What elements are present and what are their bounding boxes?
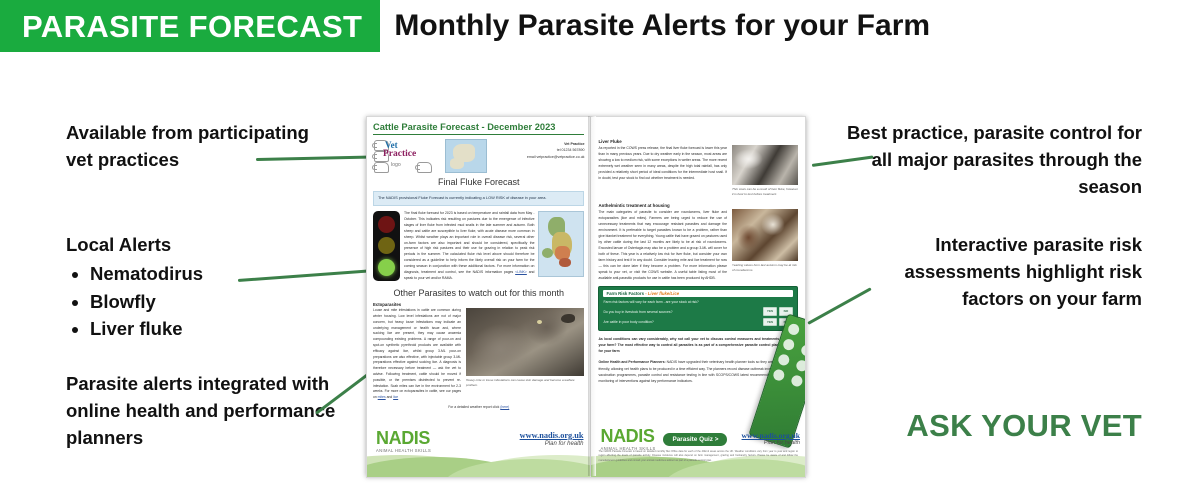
map-landmass (450, 158, 464, 169)
cow-photo-caption: Heavy mite or louse infestations can cau… (466, 378, 584, 389)
risk-status-text: The NADIS provisional Fluke Forecast is … (378, 195, 546, 200)
nadis-url[interactable]: www.nadis.org.uk (520, 431, 584, 440)
vet-logo-line3: logo (391, 162, 401, 168)
newsletter-spread[interactable]: Cattle Parasite Forecast - December 2023… (366, 116, 806, 476)
ectoparasites-paragraph: Louse and mite infestations in cattle ar… (373, 308, 461, 399)
anthelmintic-paragraph: The main categories of parasite to consi… (598, 210, 727, 281)
annotation-local-alerts: Local Alerts Nematodirus Blowfly Liver f… (66, 232, 316, 344)
calves-photo-column: Yearling calves born last autumn may be … (732, 209, 798, 274)
planners-label: Online Health and Performance Planners: (598, 360, 665, 364)
app-icon (787, 322, 801, 336)
ectoparasites-body: Louse and mite infestations in cattle ar… (373, 308, 461, 401)
conjunction: and (387, 395, 393, 399)
vet-contact-block: Vet Practice tel 01234 567890 email vetp… (491, 139, 584, 160)
risk-status-callout: The NADIS provisional Fluke Forecast is … (373, 191, 584, 206)
forecast-subtitle: Final Fluke Forecast (373, 177, 584, 187)
risk-box-subtitle: - Liver fluke/Lice (645, 291, 679, 296)
nadis-wordmark: NADIS (376, 429, 431, 447)
left-page-footer: NADIS ANIMAL HEALTH SKILLS www.nadis.org… (367, 419, 590, 477)
nadis-url[interactable]: www.nadis.org.uk (742, 431, 800, 440)
app-icon (794, 359, 806, 373)
app-icon (772, 368, 786, 382)
ectoparasites-heading: Ectoparasites (373, 302, 584, 307)
vet-logo-line2: Practice (383, 149, 416, 159)
risk-box-title: Farm Risk Factors (606, 291, 644, 296)
liver-fluke-row: As reported in the COWS press release, t… (598, 145, 798, 198)
parasite-quiz-button[interactable]: Parasite Quiz > (663, 433, 727, 446)
closing-paragraph: As local conditions can vary considerabl… (598, 336, 798, 354)
disclaimer-text: The NADIS Parasite Forecast is based on … (598, 450, 798, 464)
vet-practice-logo: Vet Practice logo (373, 139, 441, 173)
nadis-logo[interactable]: NADIS ANIMAL HEALTH SKILLS (600, 427, 655, 451)
app-icon (789, 374, 803, 388)
page-title: Monthly Parasite Alerts for your Farm (380, 0, 930, 52)
ectoparasites-row: Louse and mite infestations in cattle ar… (373, 308, 584, 401)
cow-silhouette-icon (374, 162, 389, 173)
cow-ear (561, 314, 575, 323)
yes-button[interactable]: YES (763, 318, 777, 327)
liver-fluke-heading: Liver Fluke (598, 139, 798, 144)
annotation-available-from: Available from participating vet practic… (66, 120, 316, 174)
forecast-body-link[interactable]: <LINK> (515, 270, 527, 274)
map-region (542, 248, 553, 258)
nadis-plan-for-health: Plan for health (520, 441, 584, 447)
traffic-light-amber-lamp-icon (378, 237, 395, 254)
other-parasites-heading: Other Parasites to watch out for this mo… (373, 288, 584, 298)
ask-your-vet-cta: ASK YOUR VET (906, 408, 1142, 444)
local-alerts-heading: Local Alerts (66, 232, 316, 259)
right-page-footer: NADIS ANIMAL HEALTH SKILLS Parasite Quiz… (591, 417, 805, 477)
liver-fluke-paragraph: As reported in the COWS press release, t… (598, 146, 727, 180)
forecast-body-paragraph: The final fluke forecast for 2023 is bas… (404, 211, 534, 274)
risk-question-text: Do you buy in livestock from several sou… (603, 310, 672, 314)
annotation-text: Interactive parasite risk assessments hi… (904, 234, 1142, 309)
annotation-text: Available from participating vet practic… (66, 122, 309, 170)
nadis-plan-for-health: Plan for health (742, 440, 800, 446)
forecast-title: Cattle Parasite Forecast - December 2023 (373, 122, 584, 135)
app-icon (777, 353, 791, 367)
cow-silhouette-icon (417, 162, 432, 173)
cow-photo-column: Heavy mite or louse infestations can cau… (466, 308, 584, 401)
local-alerts-list: Nematodirus Blowfly Liver fluke (66, 261, 316, 343)
risk-box-header: Farm Risk Factors - Liver fluke/Lice (603, 290, 793, 297)
anthelmintic-heading: Anthelmintic treatment at housing (598, 203, 798, 208)
weather-report-line: For a detailed weather report click (her… (373, 405, 584, 409)
traffic-light-indicator (373, 211, 400, 281)
risk-question-row: Do you buy in livestock from several sou… (603, 307, 793, 316)
cow-photo (466, 308, 584, 376)
nadis-wordmark: NADIS (600, 427, 655, 445)
fluke-photo-column: Thin cows can be a result of liver fluke… (732, 145, 798, 198)
page-header: PARASITE FORECAST Monthly Parasite Alert… (0, 0, 930, 52)
risk-box-intro: Farm risk factors will vary for each far… (603, 300, 793, 304)
thin-cow-photo (732, 145, 798, 185)
nadis-url-block[interactable]: www.nadis.org.uk Plan for health (520, 431, 584, 447)
traffic-light-green-lamp-icon (378, 259, 395, 276)
map-region (559, 258, 571, 267)
list-item: Liver fluke (90, 316, 316, 343)
risk-question-row: Are cattle in poor body condition? YES N… (603, 318, 793, 327)
annotation-integrated-planners: Parasite alerts integrated with online h… (66, 371, 336, 451)
liver-fluke-body: As reported in the COWS press release, t… (598, 145, 727, 181)
poster-canvas: PARASITE FORECAST Monthly Parasite Alert… (0, 0, 1200, 500)
vet-email: email vetpractice@vetpractice.co.uk (491, 154, 584, 160)
weather-report-text: For a detailed weather report click (448, 405, 499, 409)
newsletter-page-right[interactable]: Liver Fluke As reported in the COWS pres… (591, 116, 806, 478)
annotation-interactive-risk: Interactive parasite risk assessments hi… (852, 232, 1142, 312)
farm-risk-factors-box[interactable]: Farm Risk Factors - Liver fluke/Lice Far… (598, 286, 798, 331)
list-item: Blowfly (90, 289, 316, 316)
ectoparasites-link-mites[interactable]: mites (378, 395, 386, 399)
app-icon (799, 343, 806, 357)
anthelmintic-body: The main categories of parasite to consi… (598, 209, 727, 282)
header-badge: PARASITE FORECAST (0, 0, 380, 52)
newsletter-page-left[interactable]: Cattle Parasite Forecast - December 2023… (366, 116, 591, 478)
nadis-tagline: ANIMAL HEALTH SKILLS (376, 448, 431, 453)
risk-question-text: Are cattle in poor body condition? (603, 320, 653, 324)
uk-fluke-risk-map (538, 211, 584, 277)
annotation-text: Best practice, parasite control for all … (847, 122, 1142, 197)
weather-report-link[interactable]: (here) (500, 405, 509, 409)
list-item: Nematodirus (90, 261, 316, 288)
yes-button[interactable]: YES (763, 307, 777, 316)
app-icon (804, 328, 806, 342)
nadis-url-block[interactable]: www.nadis.org.uk Plan for health (742, 431, 800, 446)
region-map-thumbnail (445, 139, 487, 173)
thin-cow-caption: Thin cows can be a result of liver fluke… (732, 187, 798, 198)
app-icon (782, 338, 796, 352)
ectoparasites-link-lice[interactable]: lice (393, 395, 398, 399)
anthelmintic-row: The main categories of parasite to consi… (598, 209, 798, 282)
calves-caption: Yearling calves born last autumn may be … (732, 263, 798, 274)
forecast-body-row: The final fluke forecast for 2023 is bas… (373, 211, 584, 282)
forecast-body-text: The final fluke forecast for 2023 is bas… (404, 211, 534, 282)
cow-eye (537, 320, 542, 324)
annotation-best-practice: Best practice, parasite control for all … (842, 120, 1142, 200)
calves-photo (732, 209, 798, 261)
annotation-text: Parasite alerts integrated with online h… (66, 373, 335, 448)
traffic-light-red-lamp-icon (378, 216, 395, 233)
masthead-row: Vet Practice logo Vet Practice tel 01234… (373, 139, 584, 173)
nadis-logo[interactable]: NADIS ANIMAL HEALTH SKILLS (376, 429, 431, 453)
